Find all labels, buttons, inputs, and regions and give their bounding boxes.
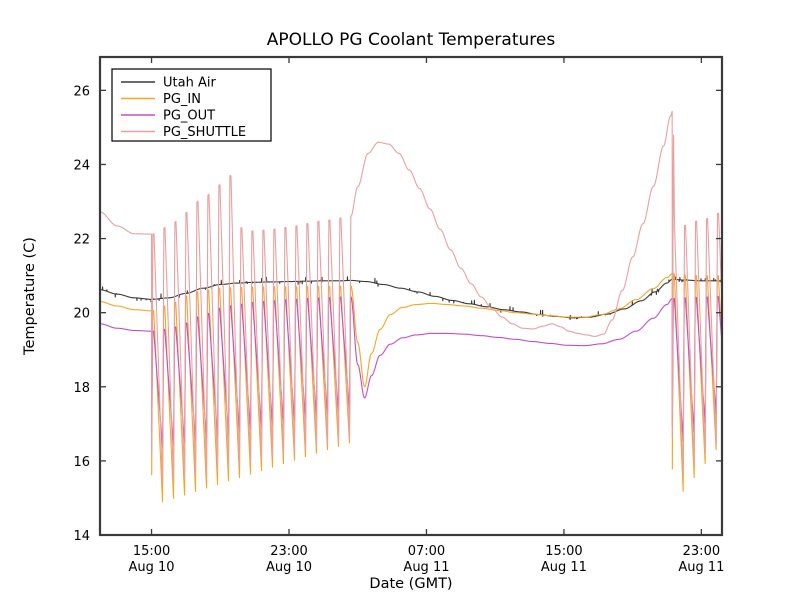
x-tick-label-time: 23:00 xyxy=(683,544,720,559)
chart-figure: APOLLO PG Coolant Temperatures 141618202… xyxy=(0,0,800,600)
y-tick-label: 24 xyxy=(73,158,90,173)
y-tick-label: 26 xyxy=(73,84,90,99)
y-tick-label: 22 xyxy=(73,233,90,248)
y-tick-label: 18 xyxy=(73,381,90,396)
x-tick-label-date: Aug 11 xyxy=(678,560,724,575)
x-tick-label-time: 23:00 xyxy=(270,544,307,559)
x-tick-label-time: 07:00 xyxy=(408,544,445,559)
x-tick-label-date: Aug 11 xyxy=(403,560,449,575)
chart-legend: Utah AirPG_INPG_OUTPG_SHUTTLE xyxy=(112,69,271,141)
x-tick-label-date: Aug 10 xyxy=(129,560,175,575)
x-tick-label-date: Aug 10 xyxy=(266,560,312,575)
chart-canvas: APOLLO PG Coolant Temperatures 141618202… xyxy=(0,0,800,600)
x-tick-label-time: 15:00 xyxy=(133,544,170,559)
y-tick-label: 20 xyxy=(73,307,90,322)
y-axis-label: Temperature (C) xyxy=(22,237,38,356)
y-tick-label: 14 xyxy=(73,529,90,544)
legend-label-pg-out: PG_OUT xyxy=(163,109,215,124)
chart-title: APOLLO PG Coolant Temperatures xyxy=(267,30,556,50)
y-tick-label: 16 xyxy=(73,455,90,470)
x-axis-label: Date (GMT) xyxy=(369,576,452,592)
legend-label-pg-in: PG_IN xyxy=(163,92,201,107)
x-tick-label-date: Aug 11 xyxy=(541,560,587,575)
x-tick-label-time: 15:00 xyxy=(545,544,582,559)
legend-label-utah-air: Utah Air xyxy=(163,76,216,91)
legend-label-pg-shuttle: PG_SHUTTLE xyxy=(163,125,246,140)
